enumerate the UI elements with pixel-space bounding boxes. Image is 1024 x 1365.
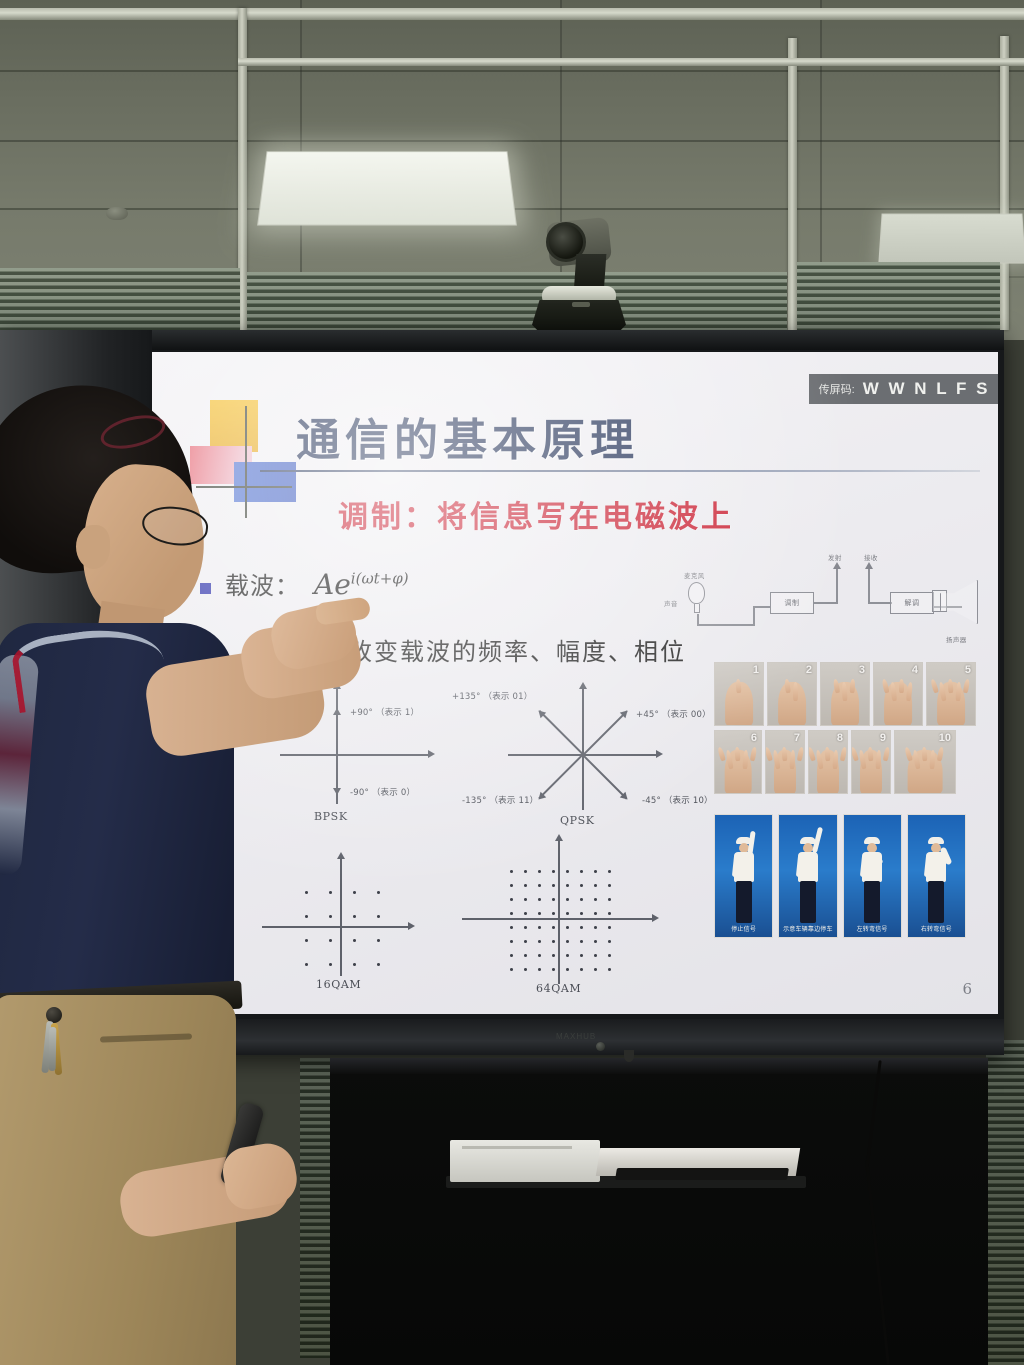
window-blinds-upper: [797, 262, 1000, 338]
constellation-point: [594, 870, 597, 873]
constellation-point: [538, 884, 541, 887]
constellation-point: [510, 940, 513, 943]
constellation-point: [594, 912, 597, 915]
qpsk-symbol-plus135: （表示 01）: [484, 692, 533, 702]
constellation-point: [377, 963, 380, 966]
constellation-point: [552, 884, 555, 887]
diagram-wire: [868, 602, 892, 604]
finger: [736, 679, 742, 693]
constellation-point: [608, 940, 611, 943]
title-underline-rule: [260, 470, 980, 472]
constellation-point: [524, 954, 527, 957]
traffic-police-caption: 停止信号: [715, 924, 772, 933]
constellation-point: [608, 968, 611, 971]
constellation-point: [353, 963, 356, 966]
traffic-police-photo: 左转弯信号: [843, 814, 902, 938]
qpsk-ray-plus135: [539, 710, 584, 755]
qam16-y-axis: [340, 858, 342, 976]
constellation-point: [594, 898, 597, 901]
constellation-point: [566, 898, 569, 901]
constellation-point: [510, 954, 513, 957]
qpsk-ray-minus135: [539, 754, 584, 799]
constellation-point: [566, 940, 569, 943]
constellation-point: [552, 954, 555, 957]
diagram-label-microphone: 麦克风: [684, 570, 705, 580]
ptz-camera: [520, 214, 630, 339]
bpsk-x-arrow: [428, 750, 435, 758]
qpsk-label-minus45: -45° （表示 10）: [642, 794, 713, 806]
constellation-point: [552, 912, 555, 915]
diagram-box-modulator: 调制: [770, 592, 814, 614]
diagram-wire: [753, 606, 755, 626]
hand-gesture-photo: 10: [894, 730, 956, 794]
traffic-police-photo-grid: 停止信号示意车辆靠边停车左转弯信号右转弯信号: [714, 814, 966, 938]
constellation-name-bpsk: BPSK: [314, 810, 348, 823]
hand-gesture-number: 3: [859, 664, 865, 676]
presenter-person: [0, 355, 310, 1365]
constellation-point: [510, 926, 513, 929]
officer-legs: [928, 881, 944, 923]
qpsk-y-axis: [582, 688, 584, 810]
window-mullion: [1000, 36, 1009, 330]
diagram-label-speaker: 扬声器: [946, 634, 967, 644]
qpsk-angle-plus45: +45°: [636, 710, 659, 720]
constellation-point: [552, 926, 555, 929]
hand-gesture-number: 5: [965, 664, 971, 676]
qpsk-y-arrow: [579, 682, 587, 689]
diagram-label-receive: 接收: [864, 552, 878, 562]
slide-subtitle: 调制：将信息写在电磁波上: [338, 492, 734, 536]
finger: [735, 747, 741, 761]
hand-gesture-photo: 4: [873, 662, 923, 726]
camera-ir-slot: [572, 302, 590, 307]
hand-gesture-photo: 1: [714, 662, 764, 726]
constellation-point: [580, 954, 583, 957]
diagram-wire: [697, 624, 755, 626]
constellation-point: [538, 968, 541, 971]
hand-gesture-number: 8: [837, 732, 843, 744]
finger: [825, 747, 831, 761]
constellation-point: [566, 870, 569, 873]
officer-legs: [864, 881, 880, 923]
qam64-x-arrow: [652, 914, 659, 922]
constellation-point: [580, 898, 583, 901]
qam64-y-axis: [558, 840, 560, 984]
smoke-detector-icon: [106, 207, 128, 220]
finger: [850, 679, 856, 693]
constellation-point: [552, 940, 555, 943]
display-brand-label: MAXHUB: [556, 1032, 596, 1041]
window-mid-rail: [238, 58, 1024, 66]
cast-code-label: 传屏码:: [819, 381, 855, 397]
qpsk-ray-plus45: [582, 710, 627, 755]
finger: [851, 747, 859, 762]
constellation-point: [566, 912, 569, 915]
qam16-y-arrow: [337, 852, 345, 859]
formula-base: Ae: [314, 568, 351, 601]
finger: [793, 682, 798, 701]
modulation-block-diagram: 声音 麦克风 调制 发射 接收 解调: [664, 550, 984, 655]
microphone-icon: [688, 582, 705, 604]
constellation-point: [580, 968, 583, 971]
constellation-point: [524, 940, 527, 943]
constellation-point: [510, 912, 513, 915]
constellation-point: [510, 870, 513, 873]
diagram-wire: [814, 602, 838, 604]
hand-gesture-photo: 6: [714, 730, 762, 794]
diagram-arrow-transmit: [833, 562, 841, 569]
hand-gesture-number: 9: [880, 732, 886, 744]
finger: [906, 682, 913, 701]
constellation-point: [510, 968, 513, 971]
cabinet-top-edge: [330, 1058, 988, 1074]
qam16-x-arrow: [408, 922, 415, 930]
qpsk-label-plus45: +45° （表示 00）: [636, 708, 711, 720]
constellation-point: [524, 968, 527, 971]
diagram-box-demodulator: 解调: [890, 592, 934, 614]
constellation-point: [594, 926, 597, 929]
constellation-point: [566, 884, 569, 887]
qpsk-symbol-minus45: （表示 10）: [664, 796, 713, 806]
finger: [797, 747, 804, 762]
constellation-point: [538, 940, 541, 943]
constellation-point: [538, 870, 541, 873]
finger: [750, 747, 757, 762]
hand-gesture-photo: 3: [820, 662, 870, 726]
qam64-y-arrow: [555, 834, 563, 841]
qpsk-x-arrow: [656, 750, 663, 758]
speaker-icon: [940, 580, 978, 624]
constellation-point: [608, 884, 611, 887]
constellation-point: [510, 884, 513, 887]
constellation-point: [566, 954, 569, 957]
constellation-point: [594, 954, 597, 957]
window-blinds-upper: [247, 272, 787, 338]
constellation-point: [377, 891, 380, 894]
hand-gesture-number: 2: [806, 664, 812, 676]
officer-signal-arm: [747, 831, 755, 855]
finger: [784, 679, 791, 694]
constellation-point: [329, 915, 332, 918]
constellation-name-qpsk: QPSK: [560, 814, 595, 827]
constellation-point: [552, 870, 555, 873]
formula-exponent: i(ωt+φ): [351, 570, 409, 588]
traffic-officer-figure: [795, 837, 821, 923]
traffic-officer-figure: [859, 837, 885, 923]
traffic-police-caption: 右转弯信号: [908, 924, 965, 933]
constellation-point: [329, 891, 332, 894]
qpsk-label-minus135: -135° （表示 11）: [462, 794, 538, 806]
display-power-indicator-icon: [596, 1042, 605, 1051]
hand-gesture-photo: 7: [765, 730, 805, 794]
slide-page-number: 6: [962, 980, 972, 998]
constellation-point: [353, 915, 356, 918]
window-blinds-right: [986, 1040, 1024, 1365]
window-blinds-upper: [0, 268, 240, 338]
constellation-point: [594, 884, 597, 887]
hand-gesture-row-top: 12345: [714, 662, 976, 726]
finger: [930, 679, 939, 694]
ceiling-light-panel: [257, 151, 517, 225]
constellation-point: [580, 926, 583, 929]
hand-gesture-photo-grid: 12345 678910: [714, 662, 966, 792]
hand-gesture-photo: 5: [926, 662, 976, 726]
constellation-point: [353, 891, 356, 894]
bullet-label-modulation-params: 改变载波的频率、幅度、相位: [348, 632, 686, 667]
keychain: [36, 1007, 76, 1107]
qpsk-label-plus135: +135° （表示 01）: [452, 690, 532, 702]
traffic-police-caption: 示意车辆靠边停车: [779, 924, 836, 933]
hand-gesture-number: 7: [794, 732, 800, 744]
constellation-point: [377, 915, 380, 918]
traffic-officer-figure: [731, 837, 757, 923]
traffic-officer-figure: [923, 837, 949, 923]
hand-gesture-number: 10: [939, 732, 951, 744]
qpsk-symbol-minus135: （表示 11）: [489, 796, 538, 806]
constellation-point: [510, 898, 513, 901]
finger: [868, 747, 874, 761]
bpsk-label-plus90: +90° （表示 1）: [350, 706, 419, 718]
diagram-label-sound: 声音: [664, 598, 678, 608]
finger: [899, 679, 904, 693]
constellation-point: [552, 968, 555, 971]
constellation-point: [353, 939, 356, 942]
constellation-point: [524, 898, 527, 901]
lecture-room-scene: 传屏码: W W N L F S 通信的基本原理 调制：将信息写在电磁波上 载波…: [0, 0, 1024, 1365]
hand-gesture-number: 6: [751, 732, 757, 744]
constellation-point: [566, 968, 569, 971]
finger: [717, 747, 726, 762]
bpsk-symbol-plus90: （表示 1）: [376, 708, 419, 718]
constellation-point: [329, 963, 332, 966]
hand-icon: [778, 682, 806, 726]
finger: [963, 679, 970, 694]
constellation-point: [524, 912, 527, 915]
constellation-point: [566, 926, 569, 929]
hand-gesture-row-bottom: 678910: [714, 730, 956, 794]
hand-gesture-photo: 2: [767, 662, 817, 726]
traffic-police-photo: 停止信号: [714, 814, 773, 938]
officer-legs: [736, 881, 752, 923]
screen-cast-code-badge: 传屏码: W W N L F S: [809, 374, 998, 404]
white-box-seam: [462, 1146, 572, 1149]
constellation-point: [608, 898, 611, 901]
constellation-point: [524, 870, 527, 873]
microphone-stem: [694, 604, 700, 613]
presenter-ear: [76, 525, 110, 569]
constellation-point: [608, 912, 611, 915]
hand-gesture-number: 1: [753, 664, 759, 676]
qpsk-symbol-plus45: （表示 00）: [662, 710, 711, 720]
constellation-name-16qam: 16QAM: [316, 978, 361, 991]
officer-legs: [800, 881, 816, 923]
bpsk-angle-minus90: -90°: [350, 788, 369, 798]
diagram-label-transmit: 发射: [828, 552, 842, 562]
window-header-rail: [0, 8, 1024, 20]
cabinet-hook-icon: [624, 1050, 634, 1062]
keyboard-shadow-strip: [615, 1168, 789, 1180]
hand-gesture-photo: 8: [808, 730, 848, 794]
window-mullion: [788, 38, 797, 330]
bpsk-y-axis: [336, 688, 338, 804]
traffic-police-caption: 左转弯信号: [844, 924, 901, 933]
constellation-point: [538, 926, 541, 929]
constellation-point: [552, 898, 555, 901]
finger: [782, 747, 788, 761]
constellation-point: [594, 968, 597, 971]
finger: [937, 747, 944, 762]
key-icon: [49, 1027, 57, 1071]
finger: [883, 747, 890, 762]
diagram-wire: [868, 568, 870, 604]
finger: [808, 747, 816, 762]
bpsk-label-minus90: -90° （表示 0）: [350, 786, 415, 798]
constellation-point: [538, 912, 541, 915]
constellation-point: [580, 870, 583, 873]
constellation-name-64qam: 64QAM: [536, 982, 581, 995]
finger: [765, 747, 773, 762]
finger: [904, 747, 913, 762]
constellation-point: [594, 940, 597, 943]
hand-gesture-number: 4: [912, 664, 918, 676]
bpsk-symbol-minus90: （表示 0）: [372, 788, 415, 798]
qpsk-angle-minus45: -45°: [642, 796, 661, 806]
constellation-qpsk: +135° （表示 01） +45° （表示 00） -135° （表示 11）…: [474, 674, 734, 834]
constellation-point: [329, 939, 332, 942]
constellation-point: [524, 926, 527, 929]
slide-title: 通信的基本原理: [296, 404, 639, 468]
diagram-wire: [753, 606, 771, 608]
qpsk-angle-minus135: -135°: [462, 796, 487, 806]
constellation-point: [580, 884, 583, 887]
finger: [948, 679, 954, 693]
qpsk-ray-minus45: [582, 754, 627, 799]
constellation-point: [580, 912, 583, 915]
constellation-point: [538, 954, 541, 957]
constellation-point: [608, 870, 611, 873]
constellation-point: [608, 954, 611, 957]
hand-gesture-photo: 9: [851, 730, 891, 794]
bpsk-point-plus90: [333, 708, 341, 715]
constellation-point: [580, 940, 583, 943]
carrier-formula: Aei(ωt+φ): [314, 568, 409, 601]
cast-code-value: W W N L F S: [863, 379, 990, 399]
traffic-police-photo: 右转弯信号: [907, 814, 966, 938]
traffic-police-photo: 示意车辆靠边停车: [778, 814, 837, 938]
constellation-point: [538, 898, 541, 901]
diagram-wire: [836, 568, 838, 604]
constellation-point: [608, 926, 611, 929]
bpsk-point-minus90: [333, 788, 341, 795]
bpsk-angle-plus90: +90°: [350, 708, 373, 718]
constellation-point: [524, 884, 527, 887]
equipment-cabinet: [330, 1058, 988, 1365]
qpsk-angle-plus135: +135°: [452, 692, 481, 702]
ceiling-light-panel-secondary: [878, 214, 1024, 264]
constellation-point: [377, 939, 380, 942]
finger: [922, 747, 928, 761]
finger: [840, 747, 847, 762]
constellation-64qam: 64QAM: [462, 836, 692, 996]
diagram-arrow-receive: [865, 562, 873, 569]
